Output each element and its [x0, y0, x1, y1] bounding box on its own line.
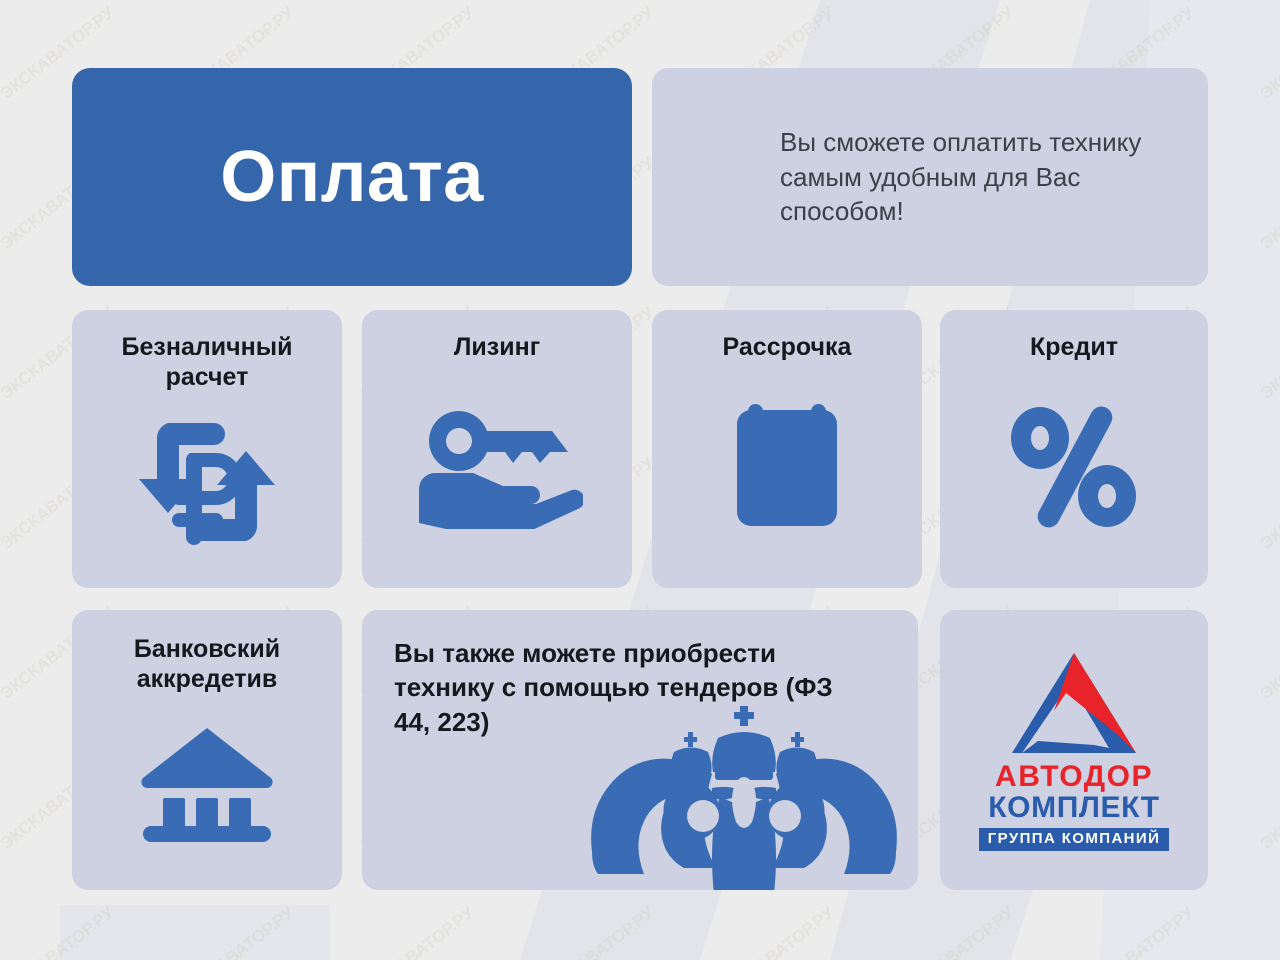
method-card-letter-of-credit[interactable]: Банковский аккредетив [72, 610, 342, 890]
hand-key-icon [374, 362, 620, 572]
method-card-cashless[interactable]: Безналичный расчет [72, 310, 342, 588]
tender-card: Вы также можете приобрести технику с пом… [362, 610, 918, 890]
method-label: Рассрочка [723, 332, 852, 362]
method-label: Безналичный расчет [84, 332, 330, 392]
method-label: Лизинг [454, 332, 540, 362]
company-logo-card: АВТОДОР КОМПЛЕКТ ГРУППА КОМПАНИЙ [940, 610, 1208, 890]
method-label: Кредит [1030, 332, 1118, 362]
method-label: Банковский аккредетив [82, 634, 332, 694]
method-card-installment[interactable]: Рассрочка [652, 310, 922, 588]
intro-text: Вы сможете оплатить технику самым удобны… [780, 125, 1170, 229]
bank-icon [82, 694, 332, 876]
intro-card: Вы сможете оплатить технику самым удобны… [652, 68, 1208, 286]
hero-card: Оплата [72, 68, 632, 286]
page-title: Оплата [220, 141, 484, 213]
logo-line-2: КОМПЛЕКТ [988, 792, 1159, 824]
calendar-icon [664, 362, 910, 572]
logo-line-3: ГРУППА КОМПАНИЙ [979, 828, 1170, 852]
percent-icon [952, 362, 1196, 572]
tender-text: Вы также можете приобрести технику с пом… [394, 636, 874, 739]
logo-wrapper: АВТОДОР КОМПЛЕКТ ГРУППА КОМПАНИЙ [974, 649, 1174, 852]
method-card-credit[interactable]: Кредит [940, 310, 1208, 588]
ruble-transfer-icon [84, 392, 330, 572]
triangle-logo-icon [1008, 649, 1140, 759]
method-card-leasing[interactable]: Лизинг [362, 310, 632, 588]
payment-infographic: Оплата Вы сможете оплатить технику самым… [0, 0, 1280, 960]
logo-line-1: АВТОДОР [995, 761, 1153, 793]
